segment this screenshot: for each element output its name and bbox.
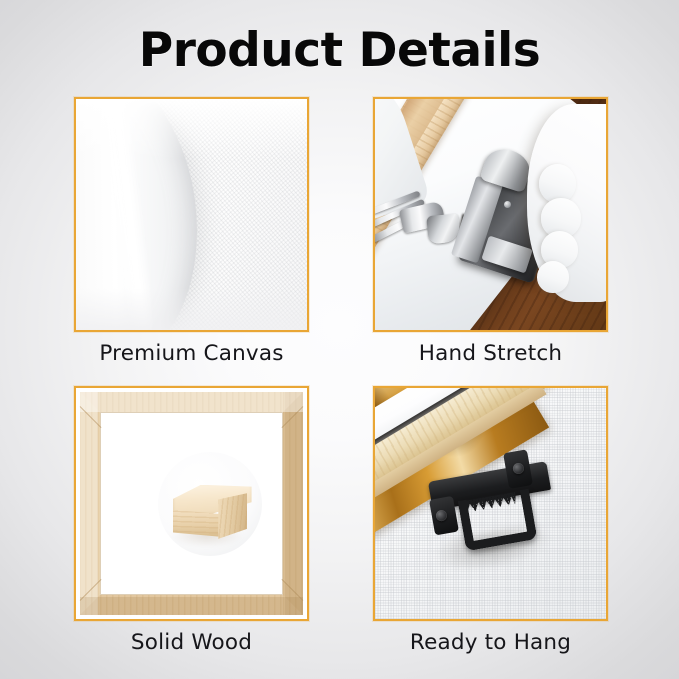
feature-label-premium-canvas: Premium Canvas [74,341,309,366]
feature-cell-ready-to-hang: Ready to Hang [373,386,608,655]
feature-cell-solid-wood: Solid Wood [74,386,309,655]
photo-frame-ready-to-hang [373,386,608,621]
photo-frame-hand-stretch [373,97,608,332]
photo-frame-solid-wood [74,386,309,621]
hand-stretch-icon [375,99,606,330]
photo-frame-premium-canvas [74,97,309,332]
solid-wood-frame-icon [76,388,307,619]
feature-label-ready-to-hang: Ready to Hang [373,630,608,655]
product-details-infographic: Product Details Premium Canvas [0,0,679,679]
sawtooth-hanger-icon [375,388,606,619]
feature-cell-premium-canvas: Premium Canvas [74,97,309,366]
feature-grid: Premium Canvas [0,0,679,679]
feature-label-hand-stretch: Hand Stretch [373,341,608,366]
canvas-roll-icon [76,99,307,330]
feature-cell-hand-stretch: Hand Stretch [373,97,608,366]
corner-joint-inset [158,452,262,556]
feature-label-solid-wood: Solid Wood [74,630,309,655]
